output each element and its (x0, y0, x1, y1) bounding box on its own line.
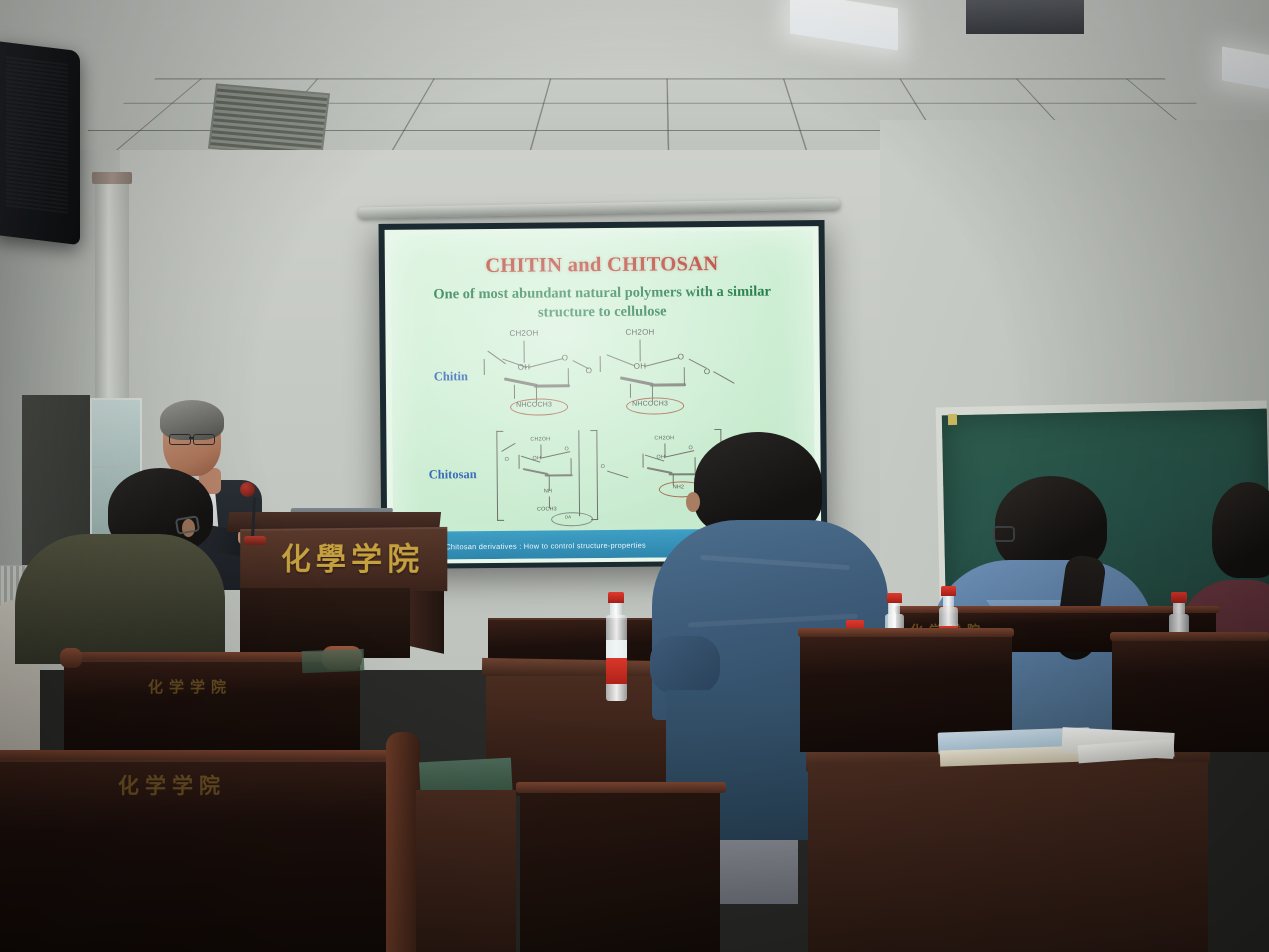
chitin-oh-right: OH (634, 362, 646, 371)
bottle-neck (889, 603, 900, 614)
audience-center-ear (686, 492, 700, 512)
chitin-structure: CH2OH O OH NHCOCH3 O CH2OH (499, 326, 790, 419)
bottle-label-red (606, 658, 627, 684)
chitin-nhcoch3-right: NHCOCH3 (632, 400, 668, 407)
audience-left-person (15, 534, 225, 664)
chitosan-oh-right: OH (657, 454, 666, 460)
chitin-o-ring-right: O (678, 352, 685, 361)
chitin-nhcoch3-left: NHCOCH3 (516, 401, 552, 408)
desk-front-right (808, 762, 1208, 952)
slide-label-chitin: Chitin (434, 369, 468, 384)
chitosan-oh-left: OH (533, 456, 542, 462)
bottle-cap-icon (608, 592, 624, 603)
chitosan-bracket-left (496, 431, 504, 521)
bottle-neck (1173, 603, 1185, 614)
presenter-glasses-left-lens-icon (169, 434, 191, 445)
slide-subtitle: One of most abundant natural polymers wi… (419, 282, 785, 323)
lecture-hall-photo: CHITIN and CHITOSAN One of most abundant… (0, 0, 1269, 952)
chair-front-center-rail (516, 782, 726, 793)
chitin-o-ring-left: O (562, 353, 569, 362)
chitosan-ch2oh-left: CH2OH (530, 436, 550, 442)
chair-front-center (520, 790, 720, 952)
chitosan-ch2oh-right: CH2OH (654, 435, 674, 441)
lectern-engraving: 化學学院 (269, 533, 438, 579)
chitosan-nh: NH (544, 488, 552, 494)
bottle-cap-icon (941, 586, 956, 596)
chitosan-nh2: NH2 (673, 484, 684, 490)
bottle-cap-icon (887, 593, 902, 603)
speaker-grille (6, 56, 68, 214)
slide-label-chitosan: Chitosan (429, 467, 477, 482)
bottle-neck (610, 603, 622, 615)
bench-front-left-post (386, 732, 420, 952)
presenter-glasses-bridge (189, 437, 194, 439)
bench-front-right-rail (798, 628, 1014, 637)
desk-left-body (416, 790, 516, 952)
slide-footer-text: Chitosan derivatives : How to control st… (445, 541, 646, 552)
ceiling-vent-icon (208, 83, 330, 158)
bottle-label-white (606, 640, 627, 658)
ceiling-fluorescent-light-right-icon (1222, 47, 1269, 92)
chitosan-o-bridge: O (601, 464, 605, 470)
bench-left-engraving: 化学学院 (148, 676, 232, 697)
column-cap (92, 172, 132, 184)
desk-mid-green-top (302, 649, 365, 673)
microphone-icon[interactable] (240, 482, 255, 497)
ceiling-fluorescent-light-icon (790, 0, 898, 51)
chitosan-coch3: COCH3 (537, 506, 557, 512)
slide-title: CHITIN and CHITOSAN (391, 252, 813, 279)
chalkboard-clip-icon (948, 414, 957, 425)
cabinet-shelf-divider (92, 466, 136, 468)
chitosan-da-label: DA (565, 514, 571, 519)
bench-front-left-engraving: 化学学院 (118, 770, 226, 800)
microphone-base (244, 536, 266, 545)
audience-center-arm (650, 636, 720, 694)
chitin-o-bridge: O (586, 366, 593, 375)
projector-mount (966, 0, 1084, 34)
chitin-ch2oh-right: CH2OH (625, 328, 654, 337)
wall-column (95, 175, 129, 425)
chitin-ch2oh-left: CH2OH (509, 329, 538, 338)
bottle-cap-icon (1171, 592, 1187, 603)
bench-front-far-right-rail (1110, 632, 1269, 641)
bottle-neck (943, 596, 954, 607)
presenter-glasses-right-lens-icon (193, 434, 215, 445)
chitin-oh-left: OH (518, 363, 530, 372)
bench-left-armrest (60, 648, 82, 668)
chitosan-da-circle (551, 512, 593, 526)
audience-right-glasses-icon (993, 526, 1015, 542)
